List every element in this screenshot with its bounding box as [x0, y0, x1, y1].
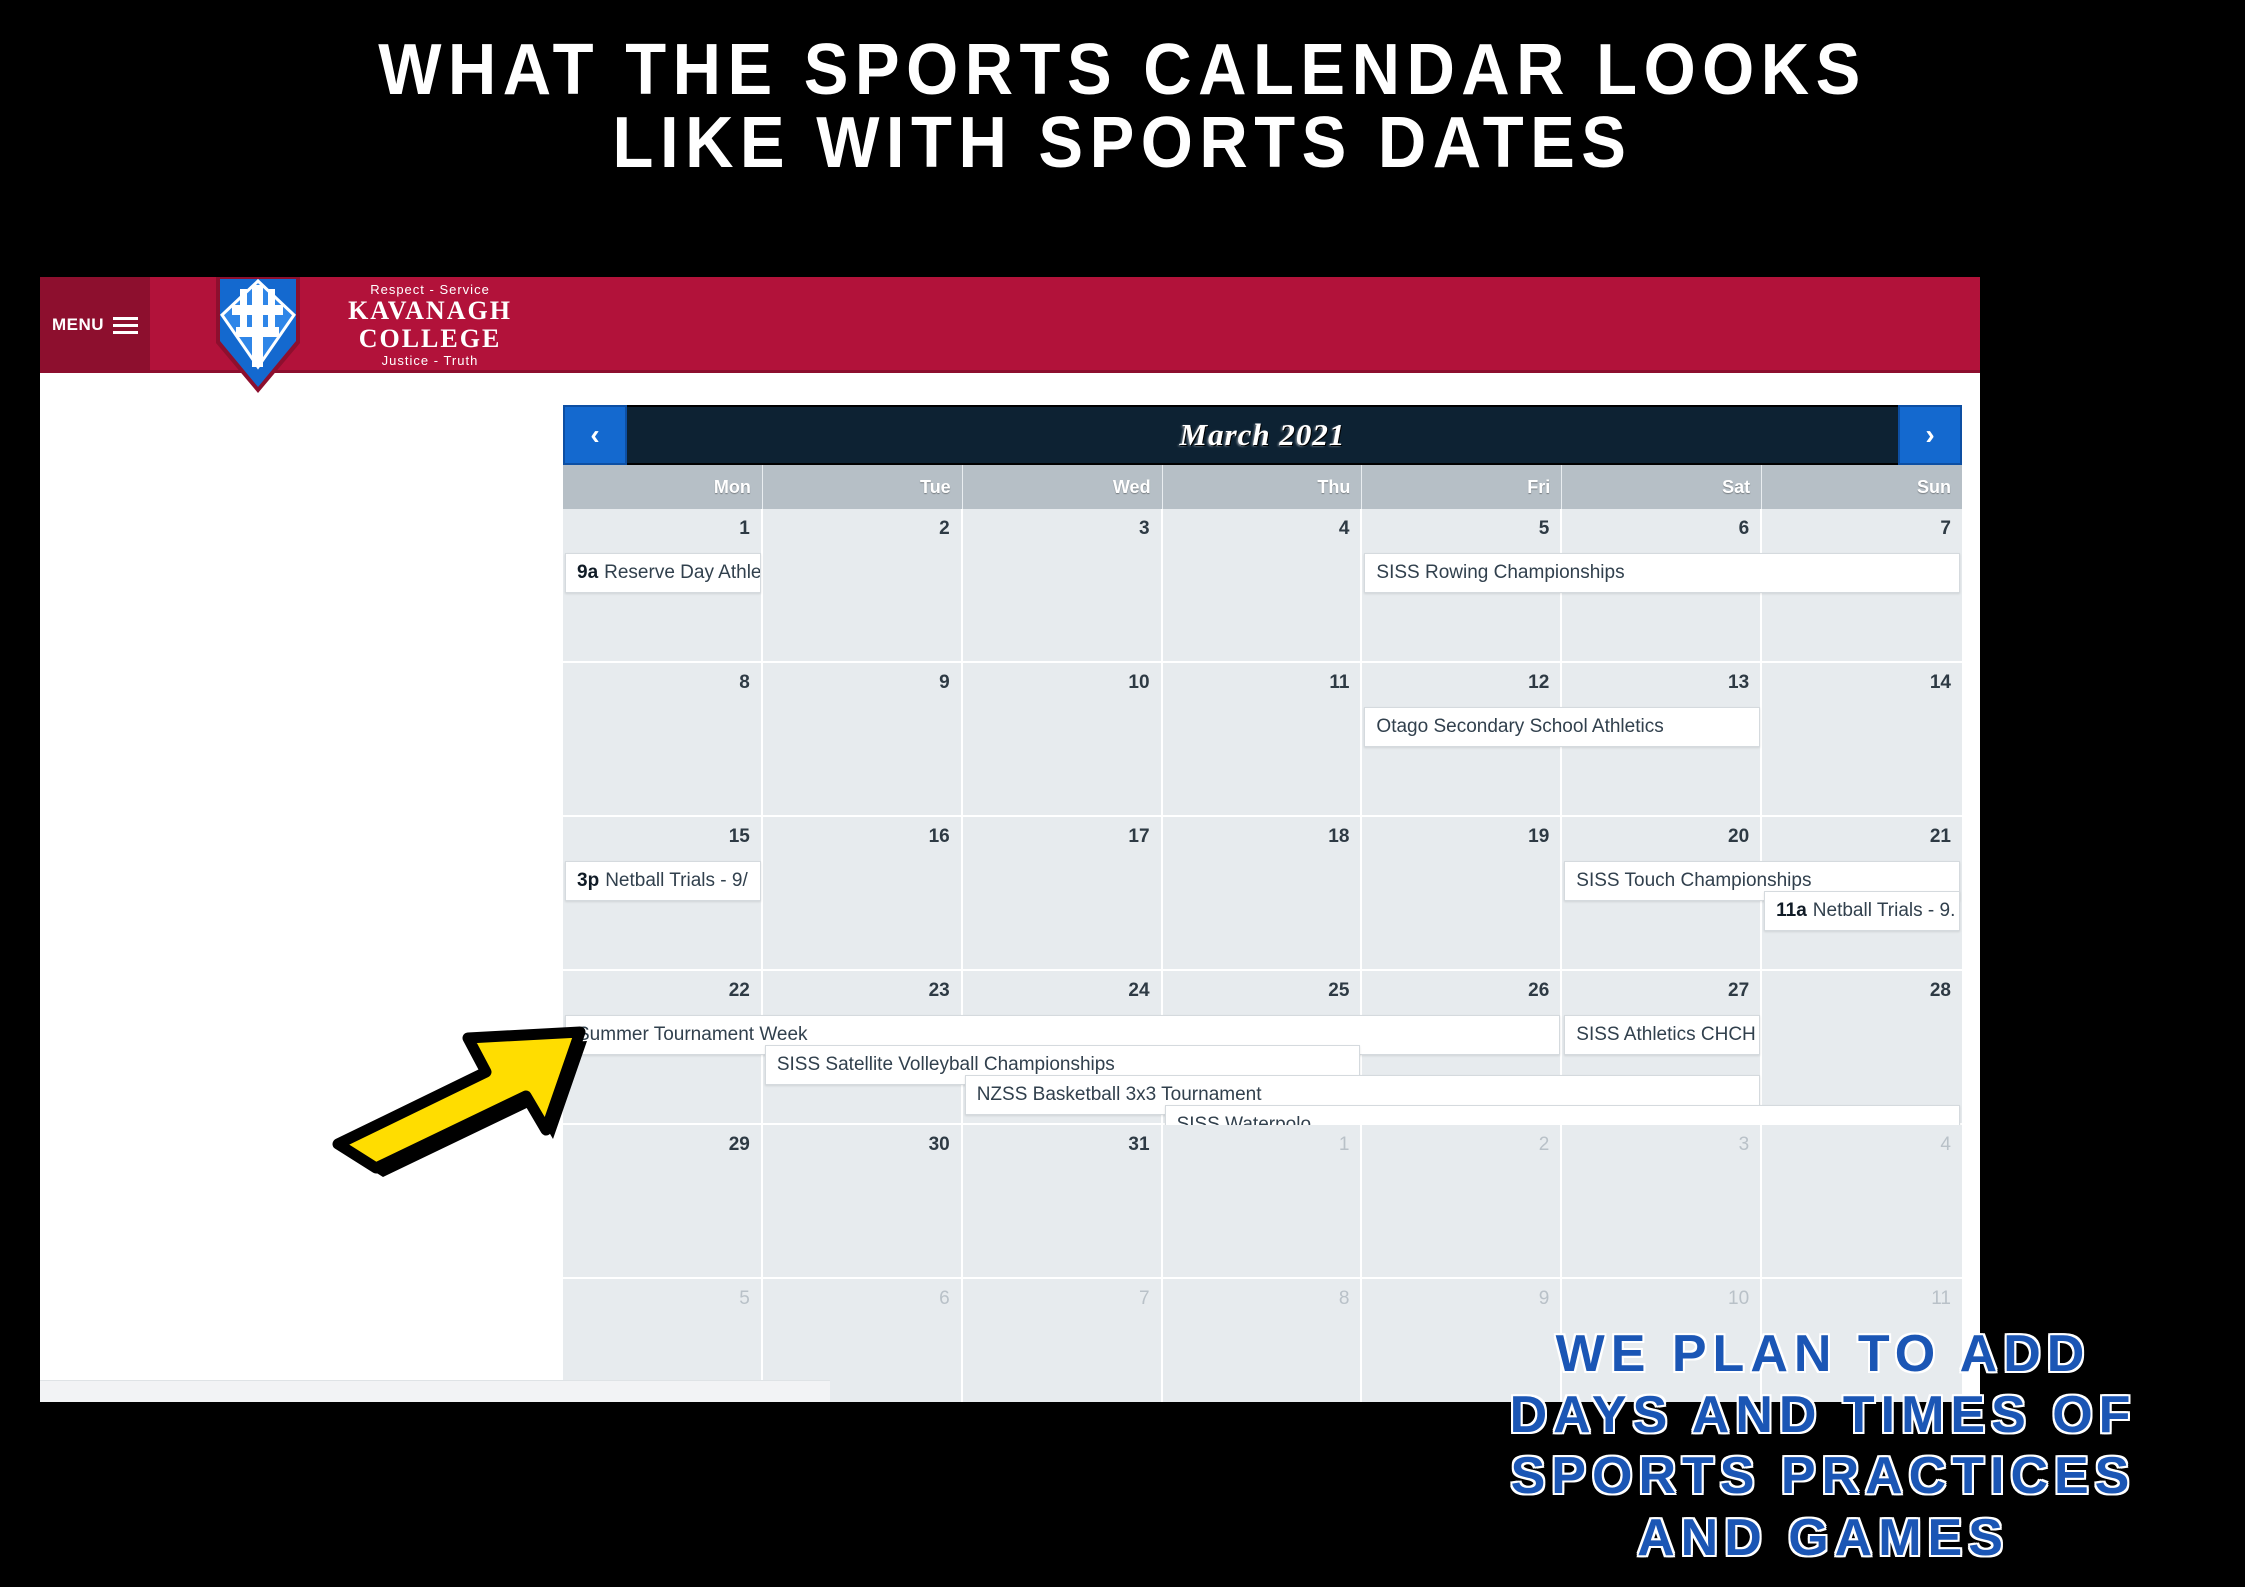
calendar-week-row: 2930311234 — [563, 1125, 1962, 1279]
event-layer: 9aReserve Day AthleSISS Rowing Champions… — [563, 509, 1962, 661]
calendar-week-row: 891011121314Otago Secondary School Athle… — [563, 663, 1962, 817]
event-layer: Summer Tournament WeekSISS Athletics CHC… — [563, 971, 1962, 1123]
calendar-event[interactable]: Otago Secondary School Athletics — [1364, 707, 1760, 747]
event-label: Otago Secondary School Athletics — [1376, 716, 1663, 738]
event-label: SISS Athletics CHCH — [1576, 1024, 1756, 1046]
slide-title-line-2: LIKE WITH SPORTS DATES — [79, 107, 2167, 180]
event-label: Netball Trials - 9. — [1813, 900, 1956, 922]
logo-tagline-bottom: Justice - Truth — [315, 353, 545, 368]
browser-page: MENU Respect - Service KAVANAGH COL — [40, 277, 1980, 1402]
page-bottom-element — [40, 1380, 830, 1402]
note-line-2: DAYS AND TIMES OF — [1423, 1385, 2223, 1446]
logo-tagline-top: Respect - Service — [315, 282, 545, 297]
calendar-event[interactable]: 11aNetball Trials - 9. — [1764, 891, 1960, 931]
note-line-1: WE PLAN TO ADD — [1423, 1324, 2223, 1385]
calendar-event[interactable]: 9aReserve Day Athle — [565, 553, 761, 593]
event-time: 11a — [1776, 900, 1807, 922]
event-time: 9a — [577, 562, 598, 584]
calendar-week-row: 22232425262728Summer Tournament WeekSISS… — [563, 971, 1962, 1125]
hamburger-icon — [113, 317, 138, 334]
calendar-day-headers: MonTueWedThuFriSatSun — [563, 465, 1962, 509]
site-header: MENU Respect - Service KAVANAGH COL — [40, 277, 1980, 373]
event-label: NZSS Basketball 3x3 Tournament — [977, 1084, 1262, 1106]
event-label: SISS Satellite Volleyball Championships — [777, 1054, 1115, 1076]
slide-title: WHAT THE SPORTS CALENDAR LOOKS LIKE WITH… — [79, 34, 2167, 181]
event-label: SISS Rowing Championships — [1376, 562, 1624, 584]
annotation-note: WE PLAN TO ADD DAYS AND TIMES OF SPORTS … — [1423, 1324, 2223, 1569]
day-header-wed: Wed — [963, 465, 1163, 509]
calendar-week-row: 12345679aReserve Day AthleSISS Rowing Ch… — [563, 509, 1962, 663]
kavanagh-crest-icon — [210, 277, 306, 397]
calendar-event[interactable]: 3pNetball Trials - 9/ — [565, 861, 761, 901]
slide-title-line-1: WHAT THE SPORTS CALENDAR LOOKS — [79, 34, 2167, 107]
logo-name-line-1: KAVANAGH — [315, 297, 545, 325]
menu-button-label: MENU — [52, 315, 104, 335]
event-layer: 3pNetball Trials - 9/SISS Touch Champion… — [563, 817, 1962, 969]
menu-button[interactable]: MENU — [40, 277, 150, 373]
yellow-arrow-annotation — [330, 1008, 640, 1178]
event-label: Reserve Day Athle — [604, 562, 761, 584]
event-layer: Otago Secondary School Athletics — [563, 663, 1962, 815]
next-month-button[interactable]: › — [1898, 405, 1962, 465]
calendar-week-row: 151617181920213pNetball Trials - 9/SISS … — [563, 817, 1962, 971]
event-time: 3p — [577, 870, 599, 892]
calendar-event[interactable]: SISS Athletics CHCH — [1564, 1015, 1760, 1055]
day-header-tue: Tue — [763, 465, 963, 509]
day-header-fri: Fri — [1362, 465, 1562, 509]
calendar-header: ‹ March 2021 › — [563, 405, 1962, 465]
event-label: SISS Touch Championships — [1576, 870, 1811, 892]
school-logo[interactable] — [210, 277, 306, 404]
logo-text-block: Respect - Service KAVANAGH COLLEGE Justi… — [315, 282, 545, 368]
day-header-mon: Mon — [563, 465, 763, 509]
event-layer — [563, 1125, 1962, 1277]
calendar-body: 12345679aReserve Day AthleSISS Rowing Ch… — [563, 509, 1962, 1402]
calendar-month-title: March 2021 — [627, 405, 1898, 465]
logo-name-line-2: COLLEGE — [315, 325, 545, 353]
day-header-sat: Sat — [1562, 465, 1762, 509]
calendar-event[interactable]: SISS Rowing Championships — [1364, 553, 1960, 593]
calendar-widget: ‹ March 2021 › MonTueWedThuFriSatSun 123… — [563, 405, 1962, 1402]
prev-month-button[interactable]: ‹ — [563, 405, 627, 465]
day-header-thu: Thu — [1163, 465, 1363, 509]
note-line-4: AND GAMES — [1423, 1508, 2223, 1569]
event-label: Netball Trials - 9/ — [605, 870, 748, 892]
note-line-3: SPORTS PRACTICES — [1423, 1446, 2223, 1507]
day-header-sun: Sun — [1762, 465, 1962, 509]
